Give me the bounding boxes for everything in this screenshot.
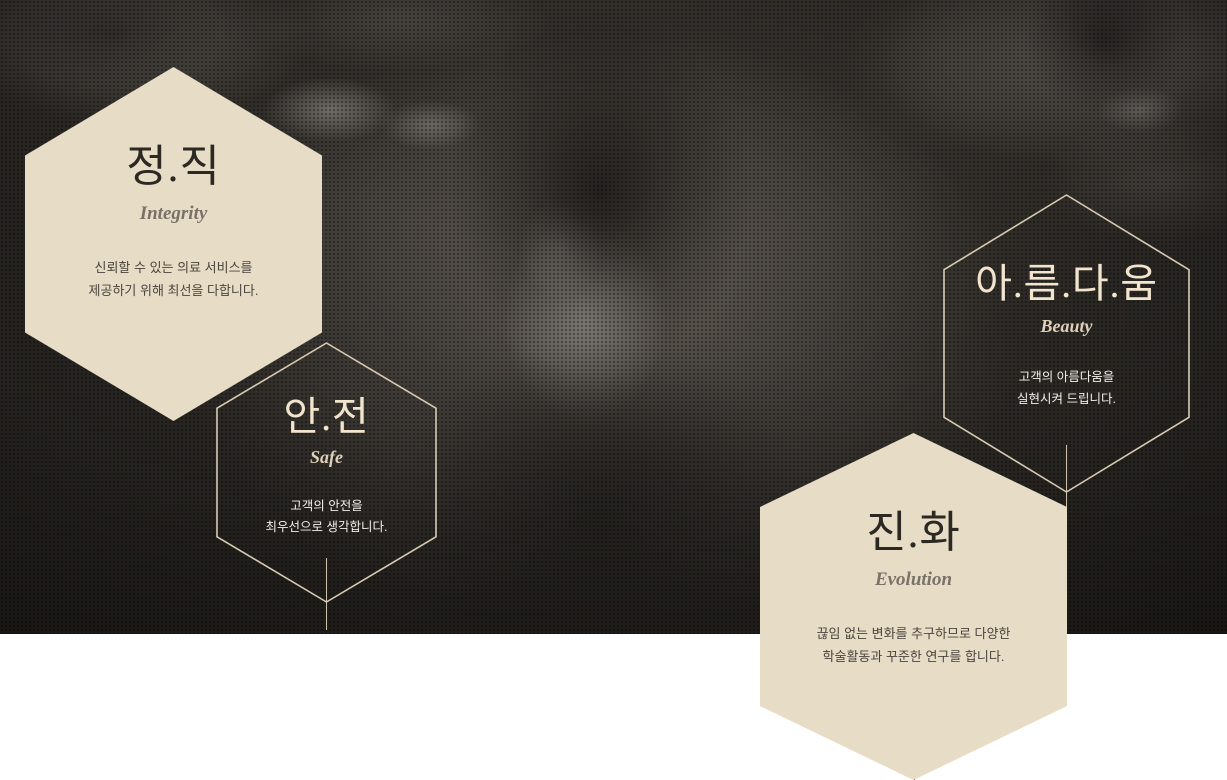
value-description-line-1: 끊임 없는 변화를 추구하므로 다양한 [760,623,1067,646]
core-values-hero: 정.직 Integrity 신뢰할 수 있는 의료 서비스를 제공하기 위해 최… [0,0,1227,780]
value-description-line-1: 고객의 아름다움을 [943,367,1190,389]
value-title-korean: 아.름.다.움 [943,264,1190,304]
value-description-line-2: 학술활동과 꾸준한 연구를 합니다. [760,646,1067,669]
value-title-english: Evolution [760,569,1067,591]
value-title-english: Beauty [943,316,1190,337]
value-description-line-2: 제공하기 위해 최선을 다합니다. [25,280,322,303]
value-card-safe[interactable]: 안.전 Safe 고객의 안전을 최우선으로 생각합니다. [216,342,437,603]
value-card-evolution[interactable]: 진.화 Evolution 끊임 없는 변화를 추구하므로 다양한 학술활동과 … [760,433,1067,780]
value-description-line-2: 실현시켜 드립니다. [943,389,1190,411]
value-title-korean: 진.화 [760,511,1067,555]
value-description-line-1: 고객의 안전을 [216,496,437,517]
value-title-korean: 정.직 [25,145,322,189]
value-title-korean: 안.전 [216,397,437,437]
value-title-english: Safe [216,447,437,468]
value-title-english: Integrity [25,203,322,225]
value-description-line-2: 최우선으로 생각합니다. [216,517,437,538]
value-description-line-1: 신뢰할 수 있는 의료 서비스를 [25,257,322,280]
